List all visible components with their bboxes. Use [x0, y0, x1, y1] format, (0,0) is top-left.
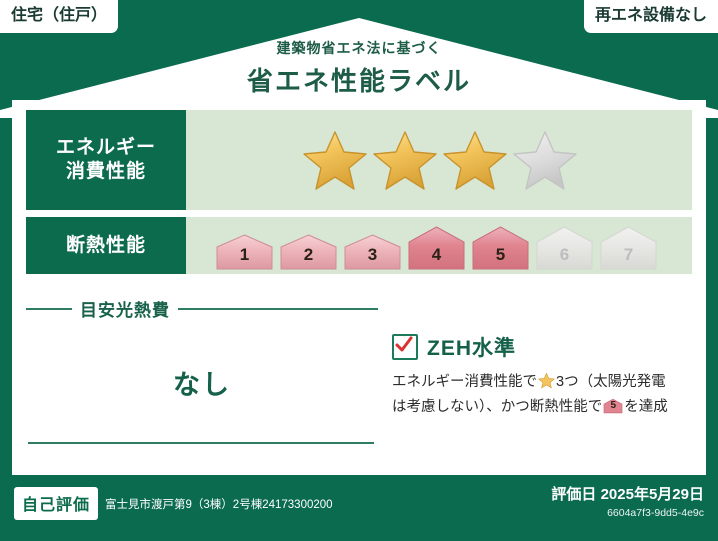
- utility-cost-value: なし: [26, 363, 378, 402]
- house-step-4: 4: [406, 225, 467, 271]
- star-icon-filled: [302, 128, 368, 192]
- document-hash: 6604a7f3-9dd5-4e9c: [551, 507, 704, 519]
- evaluation-date: 評価日 2025年5月29日: [551, 483, 704, 504]
- row-thermal-value: 1 2 3: [186, 217, 692, 274]
- zeh-panel: ZEH水準 エネルギー消費性能で 3つ（太陽光発電 は考慮しない）、かつ断熱性能…: [378, 290, 692, 470]
- utility-cost-heading: 目安光熱費: [26, 290, 378, 321]
- house-step-2: 2: [278, 233, 339, 271]
- house-step-3: 3: [342, 233, 403, 271]
- house-step-3-number: 3: [342, 245, 403, 265]
- row-energy-label-line2: 消費性能: [56, 160, 156, 184]
- energy-label-root: 住宅（住戸） 再エネ設備なし 建築物省エネ法に基づく 省エネ性能ラベル エネルギ…: [0, 0, 718, 541]
- utility-cost-heading-text: 目安光熱費: [80, 296, 170, 321]
- zeh-title-row: ZEH水準: [392, 332, 692, 362]
- heading-rule-right: [178, 308, 378, 310]
- utility-cost-bottom-rule: [28, 442, 374, 444]
- zeh-desc-part1: エネルギー消費性能で: [392, 374, 537, 390]
- row-energy-performance: エネルギー 消費性能: [26, 110, 692, 210]
- badge-building-type: 住宅（住戸）: [0, 0, 118, 33]
- checkbox-checked-icon: [392, 334, 418, 360]
- title-main: 省エネ性能ラベル: [0, 61, 718, 98]
- house-step-1: 1: [214, 233, 275, 271]
- star-icon-filled: [372, 128, 438, 192]
- row-thermal-label: 断熱性能: [26, 217, 186, 274]
- row-energy-value: [186, 110, 692, 210]
- house-step-5-number: 5: [470, 245, 531, 265]
- row-thermal-label-text: 断熱性能: [66, 234, 146, 258]
- thermal-level-scale: 1 2 3: [214, 221, 659, 271]
- zeh-desc-part2: は考慮しない）、かつ断熱性能で: [392, 399, 602, 415]
- footer-right: 評価日 2025年5月29日 6604a7f3-9dd5-4e9c: [551, 483, 704, 519]
- house-step-7-number: 7: [598, 245, 659, 265]
- house-step-6-number: 6: [534, 245, 595, 265]
- row-thermal-performance: 断熱性能: [26, 217, 692, 274]
- footer: 自己評価 富士見市渡戸第9（3棟）2号棟24173300200 評価日 2025…: [0, 475, 718, 541]
- badge-renewable-energy: 再エネ設備なし: [584, 0, 718, 33]
- property-address: 富士見市渡戸第9（3棟）2号棟24173300200: [105, 496, 333, 512]
- house-step-7: 7: [598, 225, 659, 271]
- lower-section: 目安光熱費 なし ZEH水準 エネルギー消費性能で 3つ（太陽光発電: [26, 290, 692, 470]
- house-icon-inline-number: 5: [603, 400, 623, 412]
- utility-cost-panel: 目安光熱費 なし: [26, 290, 378, 470]
- performance-rows: エネルギー 消費性能: [26, 110, 692, 281]
- star-rating: [302, 128, 578, 192]
- row-energy-label: エネルギー 消費性能: [26, 110, 186, 210]
- zeh-desc-part3: を達成: [624, 399, 668, 415]
- zeh-desc-star-count: 3つ（太陽光発電: [556, 374, 666, 390]
- house-step-6: 6: [534, 225, 595, 271]
- zeh-description: エネルギー消費性能で 3つ（太陽光発電 は考慮しない）、かつ断熱性能で 5を達成: [392, 371, 692, 419]
- house-step-4-number: 4: [406, 245, 467, 265]
- badge-renewable-energy-text: 再エネ設備なし: [595, 7, 707, 24]
- house-step-2-number: 2: [278, 245, 339, 265]
- self-evaluation-badge: 自己評価: [14, 487, 98, 520]
- star-icon-empty: [512, 128, 578, 192]
- title-subtitle: 建築物省エネ法に基づく: [0, 38, 718, 58]
- house-step-1-number: 1: [214, 245, 275, 265]
- footer-left: 自己評価 富士見市渡戸第9（3棟）2号棟24173300200: [14, 487, 333, 520]
- row-energy-label-line1: エネルギー: [56, 136, 156, 160]
- house-step-5: 5: [470, 225, 531, 271]
- house-icon-inline: 5: [603, 398, 623, 414]
- heading-rule-left: [26, 308, 72, 310]
- star-icon-inline: [538, 372, 555, 396]
- badge-building-type-text: 住宅（住戸）: [11, 7, 107, 24]
- star-icon-filled: [442, 128, 508, 192]
- title-block: 建築物省エネ法に基づく 省エネ性能ラベル: [0, 38, 718, 98]
- zeh-title-text: ZEH水準: [427, 332, 516, 362]
